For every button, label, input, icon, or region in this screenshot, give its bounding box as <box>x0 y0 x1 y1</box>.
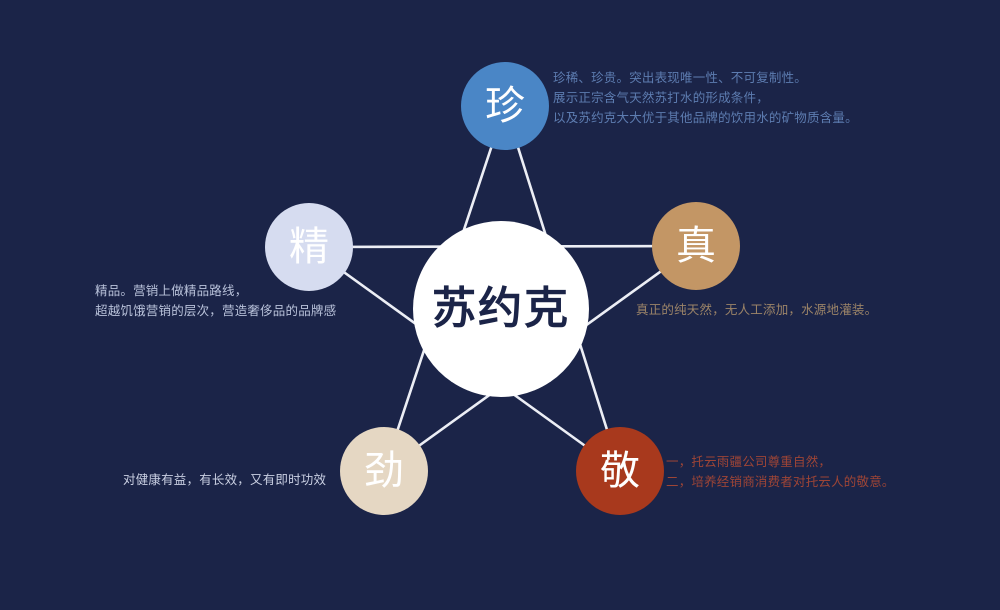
node-true[interactable]: 真 <box>652 202 740 290</box>
description-true: 真正的纯天然，无人工添加，水源地灌装。 <box>636 300 877 320</box>
node-zhen[interactable]: 珍 <box>461 62 549 150</box>
infographic-canvas: 苏约克 珍 真 精 劲 敬 珍稀、珍贵。突出表现唯一性、不可复制性。 展示正宗含… <box>0 0 1000 610</box>
node-jin[interactable]: 劲 <box>340 427 428 515</box>
description-zhen: 珍稀、珍贵。突出表现唯一性、不可复制性。 展示正宗含气天然苏打水的形成条件， 以… <box>553 68 858 128</box>
node-jing[interactable]: 精 <box>265 203 353 291</box>
description-jing: 精品。营销上做精品路线， 超越饥饿营销的层次，营造奢侈品的品牌感 <box>95 281 336 321</box>
center-node-label: 苏约克 <box>432 287 570 331</box>
node-jing-label: 精 <box>289 227 329 267</box>
node-jing2[interactable]: 敬 <box>576 427 664 515</box>
description-jin: 对健康有益，有长效，又有即时功效 <box>123 470 326 490</box>
description-jing2: 一，托云雨疆公司尊重自然， 二，培养经销商消费者对托云人的敬意。 <box>666 452 895 492</box>
node-zhen-label: 珍 <box>485 86 525 126</box>
node-true-label: 真 <box>676 226 716 266</box>
node-jing2-label: 敬 <box>600 451 640 491</box>
node-jin-label: 劲 <box>364 451 404 491</box>
center-node-brand[interactable]: 苏约克 <box>413 221 589 397</box>
